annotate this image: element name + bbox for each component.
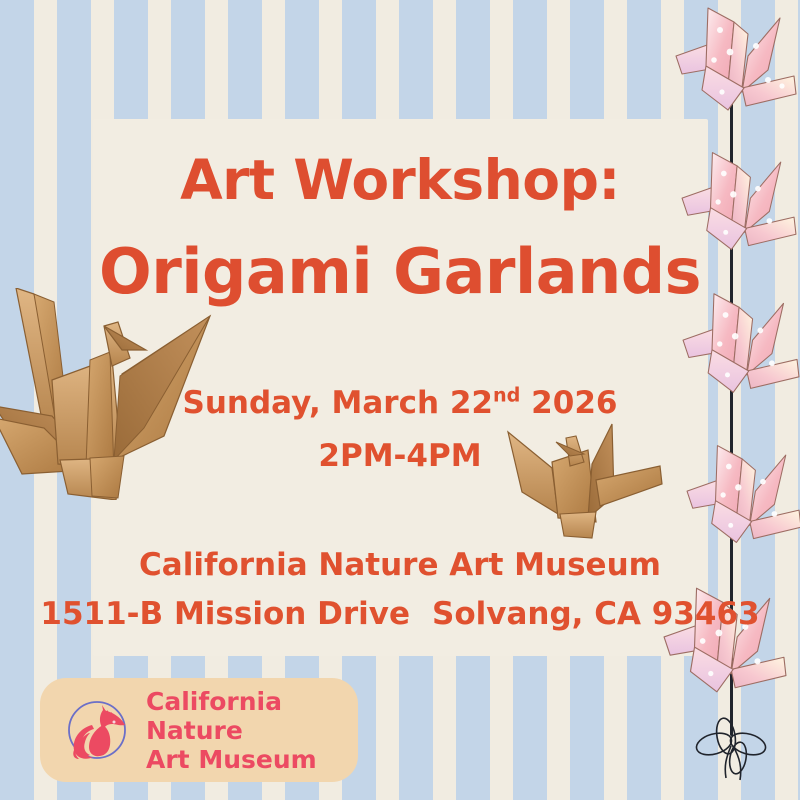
venue-street: 1511-B Mission Drive <box>40 596 410 632</box>
museum-logo-text: California Nature Art Museum <box>146 687 358 774</box>
garland-bow <box>690 712 774 784</box>
page-title-line1: Art Workshop: <box>0 148 800 212</box>
venue-city-state-zip: Solvang, CA 93463 <box>432 596 760 632</box>
event-date-suffix: 2026 <box>520 385 617 421</box>
museum-logo-line2: Art Museum <box>146 745 358 774</box>
event-date-ordinal: nd <box>493 384 520 407</box>
event-date-prefix: Sunday, March 22 <box>183 385 493 421</box>
event-poster: Art Workshop: Origami Garlands Sunday, M… <box>0 0 800 800</box>
page-title-line2: Origami Garlands <box>0 236 800 308</box>
event-time: 2PM-4PM <box>0 437 800 475</box>
museum-logo-badge[interactable]: California Nature Art Museum <box>40 678 358 782</box>
pink-crane-1 <box>672 0 800 118</box>
event-date: Sunday, March 22nd 2026 <box>0 384 800 422</box>
venue-name: California Nature Art Museum <box>0 545 800 585</box>
fox-in-circle-icon <box>62 695 132 765</box>
venue-address: 1511-B Mission DriveSolvang, CA 93463 <box>0 594 800 634</box>
museum-logo-line1: California Nature <box>146 687 358 745</box>
